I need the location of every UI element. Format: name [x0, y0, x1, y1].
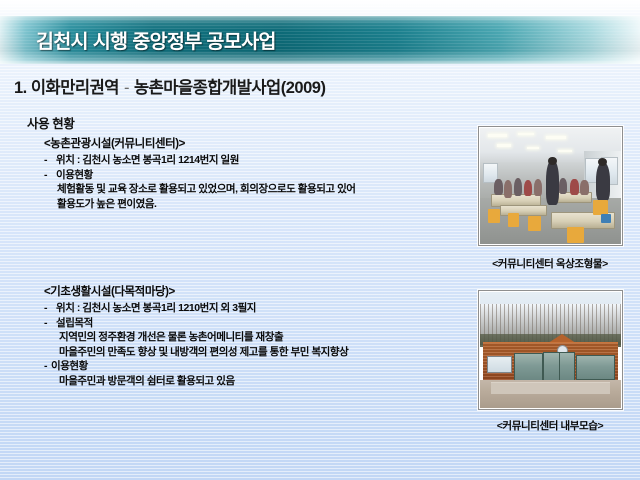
facility-bullet-row: - 위치 : 김천시 농소면 봉곡1리 1210번지 외 3필지: [44, 301, 348, 316]
person: [580, 180, 588, 195]
section-project: 농촌마을종합개발사업(2009): [134, 79, 326, 97]
presentation-slide: 김천시 시행 중앙정부 공모사업 1. 이화만리권역-농촌마을종합개발사업(20…: [0, 0, 640, 480]
person: [504, 180, 512, 197]
chair: [528, 216, 541, 231]
person-head: [548, 157, 556, 165]
glass-door: [543, 352, 559, 381]
person: [559, 178, 567, 194]
bullet-dash: -: [44, 153, 56, 168]
ceiling-light: [488, 134, 506, 137]
person: [524, 180, 532, 196]
facility-detail-line: 지역민의 정주환경 개선은 물론 농촌어메니티를 재창출: [44, 330, 348, 345]
ceiling-light: [497, 144, 511, 146]
facility-detail-line: 마을주민의 만족도 향상 및 내방객의 편의성 제고를 통한 부민 복지향상: [44, 345, 348, 360]
facility-title: <농촌관광시설(커뮤니티센터)>: [44, 137, 356, 152]
chair: [508, 213, 519, 227]
photo-image: [480, 292, 621, 408]
photo-community-center-interior: [478, 126, 623, 246]
photo-community-center-exterior: [478, 290, 623, 410]
glass-window-wall: [576, 355, 615, 380]
section-heading: 1. 이화만리권역-농촌마을종합개발사업(2009): [14, 74, 325, 98]
entrance-apron: [491, 382, 609, 395]
ceiling-light: [518, 133, 534, 136]
facility-detail-line: 활용도가 높은 편이였음.: [44, 197, 356, 212]
table: [500, 205, 547, 216]
facility-bullet-row: - 설립목적: [44, 316, 348, 331]
title-banner: 김천시 시행 중앙정부 공모사업: [0, 16, 640, 64]
chair: [593, 200, 609, 215]
sub-heading: 사용 현황: [27, 113, 74, 132]
bullet-dash: -: [44, 301, 56, 316]
facility-bullet-row: - 위치 : 김천시 농소면 봉곡1리 1214번지 일원: [44, 153, 356, 168]
facility-title: <기초생활시설(다목적마당)>: [44, 285, 348, 300]
glass-door: [559, 352, 575, 381]
person-standing: [546, 160, 559, 204]
chair: [601, 214, 611, 223]
ceiling-light: [558, 150, 572, 152]
person: [570, 179, 578, 195]
facility-block-community-center: <농촌관광시설(커뮤니티센터)> - 위치 : 김천시 농소면 봉곡1리 121…: [44, 137, 356, 211]
section-separator: -: [119, 79, 134, 97]
glass-door: [514, 353, 543, 381]
bullet-text: 위치 : 김천시 농소면 봉곡1리 1214번지 일원: [56, 153, 239, 168]
person: [534, 179, 542, 196]
facility-detail-line: 체험활동 및 교육 장소로 활용되고 있었으며, 회의장으로도 활용되고 있어: [44, 182, 356, 197]
bullet-dash: -: [44, 316, 56, 331]
ceiling-light: [527, 147, 540, 149]
photo-image: [480, 128, 621, 244]
facility-bullet-row: - 이용현황: [44, 359, 348, 374]
bullet-dash: -: [44, 359, 51, 374]
person-standing: [596, 162, 610, 201]
facility-block-basic-living: <기초생활시설(다목적마당)> - 위치 : 김천시 농소면 봉곡1리 1210…: [44, 285, 348, 388]
bullet-text: 이용현황: [56, 168, 93, 183]
facility-bullet-row: - 이용현황: [44, 168, 356, 183]
person: [514, 178, 522, 197]
bullet-dash: -: [44, 168, 56, 183]
chair: [567, 227, 584, 243]
chair: [488, 209, 499, 223]
photo-caption: <커뮤니티센터 내부모습>: [470, 418, 630, 433]
window: [487, 356, 512, 373]
person: [494, 179, 502, 195]
section-number-region: 1. 이화만리권역: [14, 79, 119, 97]
banner-title: 김천시 시행 중앙정부 공모사업: [36, 25, 276, 54]
facility-detail-line: 마을주민과 방문객의 쉼터로 활용되고 있음: [44, 374, 348, 389]
bullet-text: 설립목적: [56, 316, 93, 331]
photo-caption: <커뮤니티센터 옥상조형물>: [470, 256, 630, 271]
ceiling-light: [546, 136, 566, 139]
bullet-text: 이용현황: [51, 359, 88, 374]
bullet-text: 위치 : 김천시 농소면 봉곡1리 1210번지 외 3필지: [56, 301, 256, 316]
